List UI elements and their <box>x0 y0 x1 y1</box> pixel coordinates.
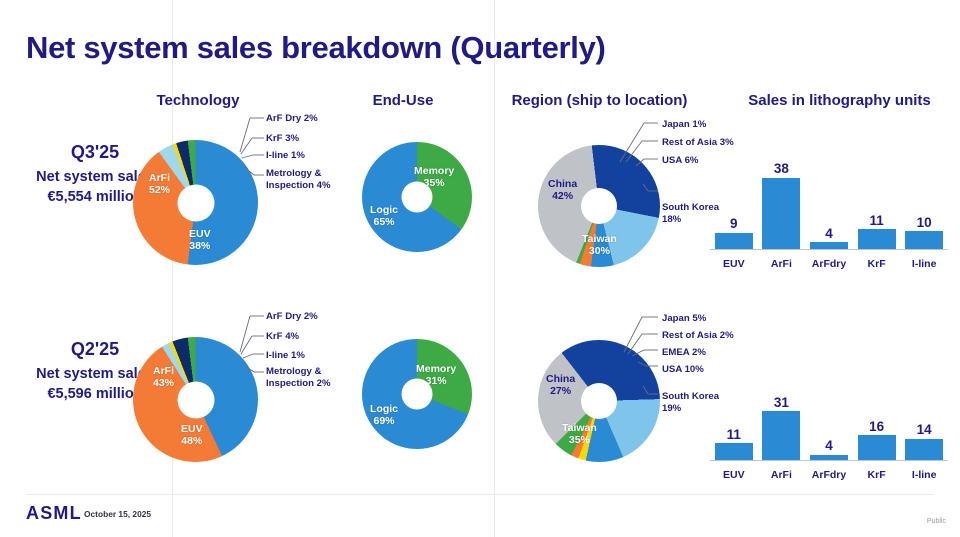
bar-column: 14 <box>905 423 943 461</box>
callout-usa-q2: USA 10% <box>662 364 704 376</box>
page-title: Net system sales breakdown (Quarterly) <box>26 30 606 66</box>
bar-rect <box>715 443 753 461</box>
bar-category-label: ArFi <box>762 258 800 270</box>
callout-krf-q3: KrF 3% <box>266 133 299 145</box>
bar-chart-units-q2: 113141614 EUVArFiArFdryKrFI-line <box>710 375 948 483</box>
column-heading-units: Sales in lithography units <box>742 92 937 110</box>
donut-technology-q2: ArFi43% EUV48% <box>133 337 258 462</box>
bar-value-label: 11 <box>869 214 883 228</box>
bar-value-label: 10 <box>917 216 932 230</box>
donut-hole <box>581 383 617 419</box>
bar-category-label: KrF <box>858 258 896 270</box>
slice-label-china: China27% <box>546 373 575 397</box>
callout-krf-q2: KrF 4% <box>266 331 299 343</box>
bar-category-label: ArFdry <box>810 469 848 481</box>
bar-column: 4 <box>810 439 848 461</box>
callout-rest-of-asia-q2: Rest of Asia 2% <box>662 330 734 342</box>
bar-value-label: 31 <box>774 396 789 410</box>
callout-i-line-q3: I-line 1% <box>266 150 305 162</box>
asml-logo: ASML <box>26 503 82 524</box>
footer-date: October 15, 2025 <box>84 509 151 519</box>
column-heading-end-use: End-Use <box>348 92 458 109</box>
bar-column: 38 <box>762 162 800 250</box>
bar-column: 31 <box>762 396 800 461</box>
slice-label-taiwan: Taiwan30% <box>582 233 617 257</box>
bar-axis-line <box>710 460 948 461</box>
slice-label-arfi: ArFi43% <box>153 365 174 389</box>
bar-category-label: ArFi <box>762 469 800 481</box>
panel-divider-mid <box>494 0 495 537</box>
slice-label-china: China42% <box>548 178 577 202</box>
bar-value-label: 38 <box>774 162 789 176</box>
bar-value-label: 14 <box>917 423 932 437</box>
callout-japan-q2: Japan 5% <box>662 313 706 325</box>
bar-axis-line <box>710 249 948 250</box>
bar-column: 11 <box>715 428 753 461</box>
slice-label-taiwan: Taiwan35% <box>562 422 597 446</box>
bar-category-label: I-line <box>905 469 943 481</box>
callout-usa-q3: USA 6% <box>662 155 698 167</box>
donut-hole <box>177 381 214 418</box>
donut-region-q3: China42% Taiwan30% <box>538 145 660 267</box>
donut-end-use-q3: Memory35% Logic65% <box>362 142 472 252</box>
bar-column: 4 <box>810 227 848 250</box>
slice-label-logic: Logic69% <box>370 403 398 427</box>
callout-rest-of-asia-q3: Rest of Asia 3% <box>662 137 734 149</box>
bar-value-label: 9 <box>730 217 738 231</box>
bar-rect <box>858 435 896 461</box>
bar-category-label: EUV <box>715 469 753 481</box>
bar-rect <box>905 439 943 461</box>
footer-divider <box>26 494 934 495</box>
bar-column: 10 <box>905 216 943 251</box>
slice-label-euv: EUV38% <box>189 228 211 252</box>
callout-i-line-q2: I-line 1% <box>266 350 305 362</box>
bar-rect <box>715 233 753 250</box>
slide-canvas: Net system sales breakdown (Quarterly) T… <box>0 0 960 537</box>
bar-value-label: 16 <box>869 420 884 434</box>
bar-rect <box>762 411 800 461</box>
slice-label-memory: Memory35% <box>414 165 454 189</box>
bar-chart-units-q3: 93841110 EUVArFiArFdryKrFI-line <box>710 152 948 272</box>
bar-plot-area: 93841110 <box>710 152 948 250</box>
callout-arf-dry-q3: ArF Dry 2% <box>266 113 318 125</box>
bar-rect <box>858 229 896 250</box>
bar-value-label: 4 <box>825 439 833 453</box>
bar-rect <box>905 231 943 250</box>
donut-end-use-q2: Memory31% Logic69% <box>362 339 472 449</box>
callout-arf-dry-q2: ArF Dry 2% <box>266 311 318 323</box>
donut-technology-q3: ArFi52% EUV38% <box>133 140 258 265</box>
bar-column: 9 <box>715 217 753 250</box>
slice-label-logic: Logic65% <box>370 204 398 228</box>
bar-value-label: 11 <box>727 428 741 442</box>
column-heading-technology: Technology <box>148 92 248 109</box>
bar-column: 11 <box>858 214 896 250</box>
slice-label-euv: EUV48% <box>181 423 203 447</box>
callout-metrology-q2: Metrology &Inspection 2% <box>266 366 331 389</box>
slice-label-memory: Memory31% <box>416 363 456 387</box>
bar-category-label: I-line <box>905 258 943 270</box>
donut-hole <box>581 188 617 224</box>
callout-metrology-q3: Metrology &Inspection 4% <box>266 168 331 191</box>
column-heading-region: Region (ship to location) <box>492 92 707 109</box>
bar-column: 16 <box>858 420 896 461</box>
callout-emea-q2: EMEA 2% <box>662 347 706 359</box>
bar-category-label: KrF <box>858 469 896 481</box>
bar-rect <box>762 178 800 250</box>
bar-category-label: ArFdry <box>810 258 848 270</box>
bar-plot-area: 113141614 <box>710 375 948 461</box>
donut-region-q2: China27% Taiwan35% <box>538 340 660 462</box>
slice-label-arfi: ArFi52% <box>149 172 170 196</box>
bar-category-label: EUV <box>715 258 753 270</box>
footer-classification: Public <box>927 518 946 525</box>
donut-hole <box>177 184 214 221</box>
callout-japan-q3: Japan 1% <box>662 119 706 131</box>
bar-value-label: 4 <box>825 227 833 241</box>
